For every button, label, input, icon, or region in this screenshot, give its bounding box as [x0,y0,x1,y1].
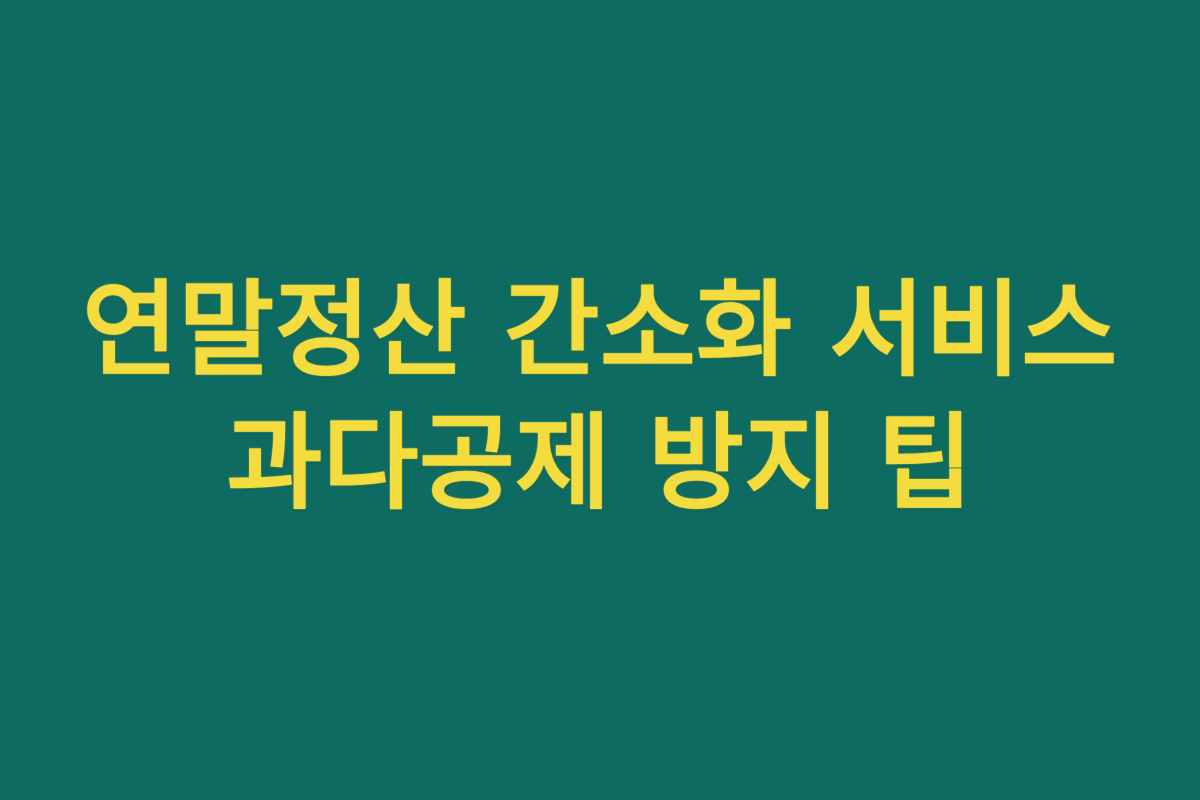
title-line-2: 과다공제 방지 팁 [30,397,1170,530]
poster-canvas: 연말정산 간소화 서비스 과다공제 방지 팁 [0,0,1200,800]
page-title: 연말정산 간소화 서비스 과다공제 방지 팁 [0,264,1200,530]
title-line-1: 연말정산 간소화 서비스 [30,264,1170,397]
